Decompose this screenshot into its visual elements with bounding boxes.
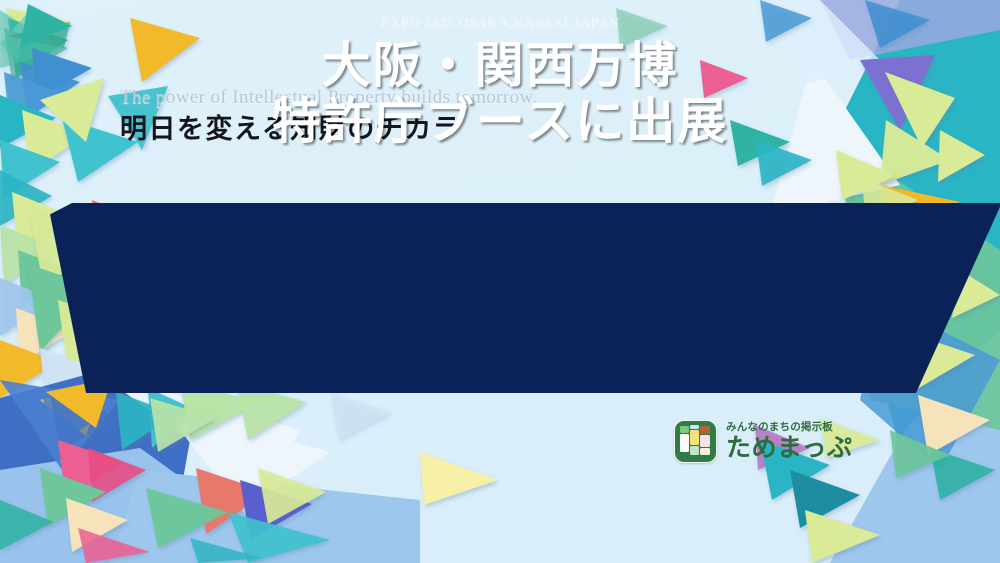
headline-line-1: 大阪・関西万博	[321, 37, 678, 95]
headline-banner-content: EXPO 2025 OSAKA,KANSAI,JAPAN 大阪・関西万博 特許庁…	[0, 0, 1000, 190]
tile-green-top	[680, 426, 689, 433]
tile-pink	[700, 435, 710, 447]
headline-line-2: 特許庁ブースに出展	[272, 93, 729, 151]
logo-brand-name: ためまっぷ	[726, 435, 853, 461]
logo-tagline: みんなのまちの掲示板	[726, 422, 853, 434]
expo-2025-announcement-poster: The power of Intellectual Property build…	[0, 0, 1000, 563]
tile-brown	[700, 426, 710, 434]
bulletin-board-icon	[674, 420, 717, 463]
tile-mint	[690, 446, 699, 455]
tile-cream	[700, 448, 710, 455]
tamemap-logo-lockup[interactable]: みんなのまちの掲示板 ためまっぷ	[674, 420, 853, 463]
tile-blue-strip	[690, 425, 699, 429]
expo-eyebrow-label: EXPO 2025 OSAKA,KANSAI,JAPAN	[381, 15, 620, 31]
headline-banner	[0, 203, 1000, 393]
logo-text-block: みんなのまちの掲示板 ためまっぷ	[726, 422, 853, 462]
tile-white-left	[680, 434, 689, 452]
tile-yellow	[690, 430, 699, 445]
